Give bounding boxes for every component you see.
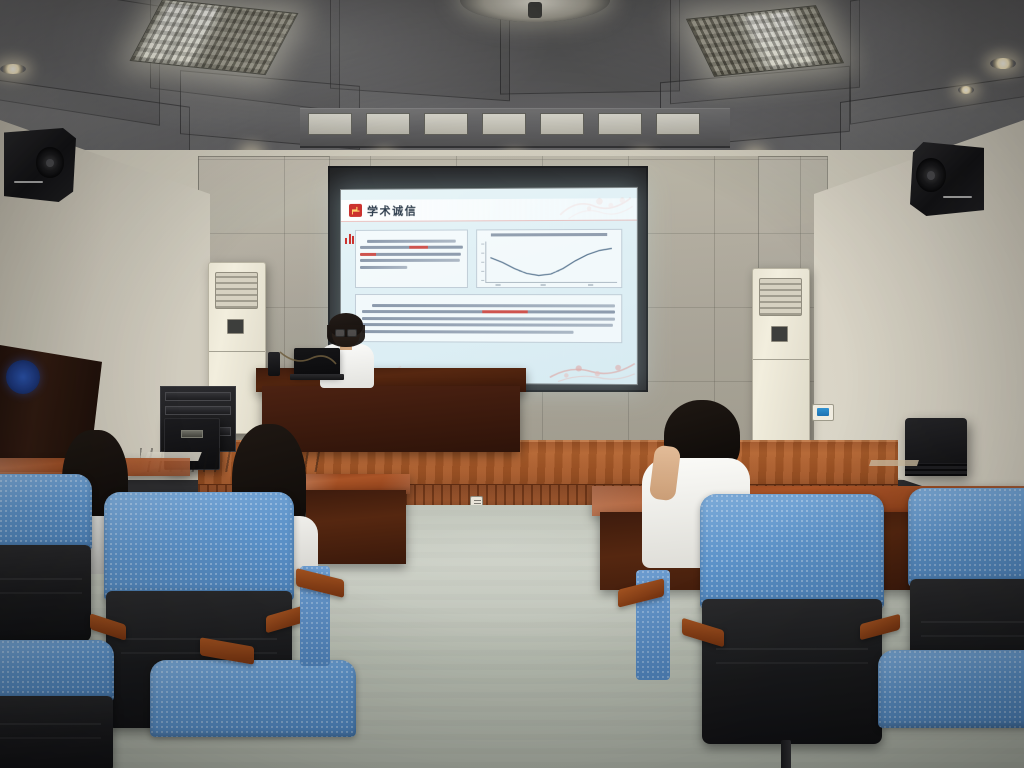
ac-grille — [215, 272, 259, 309]
seat-backrest — [878, 650, 1024, 728]
chart-title-line — [483, 233, 615, 237]
plum-blossom-ornament-bottom-right — [548, 337, 637, 384]
seat[interactable] — [0, 640, 114, 768]
wall-speaker-right — [910, 142, 984, 216]
ac-display — [771, 326, 788, 342]
chart-y-axis — [485, 242, 486, 282]
presentation-slide: 学术诚信 — [341, 188, 637, 384]
microphone-cable — [278, 348, 338, 382]
downlight — [990, 58, 1016, 69]
audience-desk-left-front-panel — [306, 490, 406, 564]
seat-backrest — [908, 488, 1024, 587]
floor-strip-right — [869, 460, 919, 466]
slide-title: 学术诚信 — [367, 202, 417, 218]
seat[interactable] — [700, 494, 884, 744]
line-series-path — [490, 248, 611, 275]
downlight — [958, 86, 974, 94]
slide-chart-block — [476, 229, 622, 288]
slide-paragraph-block — [355, 294, 622, 343]
projection-screen[interactable]: 学术诚信 — [341, 188, 637, 384]
seat[interactable] — [0, 474, 92, 642]
air-conditioner-right — [752, 268, 810, 444]
presenter-glasses — [335, 329, 357, 335]
subwoofer-right — [905, 418, 967, 476]
seat-backrest — [0, 474, 92, 551]
seat[interactable] — [150, 660, 356, 768]
bar-chart-icon — [345, 234, 354, 244]
seat-shell — [0, 696, 113, 768]
seat-backrest — [150, 660, 356, 737]
chart-line-series — [487, 241, 615, 282]
seat-shell — [0, 545, 91, 642]
seat-shell — [702, 599, 882, 744]
chart-x-axis — [485, 282, 617, 283]
seat-leg — [781, 740, 791, 768]
seat-backrest — [700, 494, 884, 609]
party-emblem-icon — [349, 204, 362, 217]
seat-backrest — [104, 492, 294, 601]
microphone-base — [268, 352, 280, 376]
lecture-hall-photo: 学术诚信 — [0, 0, 1024, 768]
seat-backrest — [0, 640, 114, 702]
seat[interactable] — [878, 650, 1024, 768]
slide-title-bar: 学术诚信 — [341, 198, 637, 222]
speaker-badge — [181, 430, 203, 438]
slide-text-block — [355, 229, 468, 288]
lectern-emblem-icon — [6, 360, 40, 394]
ac-display — [227, 319, 244, 334]
ceiling-soffit — [300, 108, 730, 148]
downlight — [0, 64, 26, 74]
wall-speaker-left — [4, 128, 76, 202]
ac-wall-controller[interactable] — [812, 404, 834, 421]
ac-grille — [759, 278, 803, 316]
